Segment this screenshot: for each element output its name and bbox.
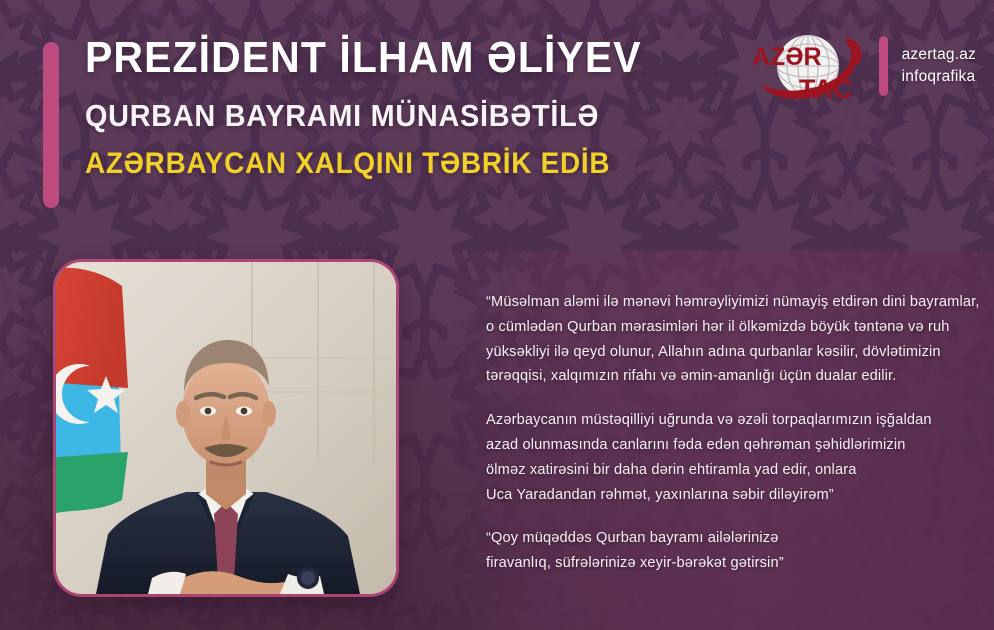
paragraph-2-line-1: Azərbaycanın müstəqilliyi uğrunda və əzə… bbox=[486, 408, 934, 433]
statement-paragraph-3: “Qoy müqəddəs Qurban bayramı ailələriniz… bbox=[486, 526, 934, 576]
statement-text-block: “Müsəlman aləmi ilə mənəvi həmrəyliyimiz… bbox=[486, 290, 934, 576]
logo-word-top: AZƏR bbox=[752, 43, 822, 71]
paragraph-3-line-1: “Qoy müqəddəs Qurban bayramı ailələriniz… bbox=[486, 526, 934, 551]
title-accent-bar bbox=[43, 42, 59, 208]
paragraph-3-line-2: firavanlıq, süfrələrinizə xeyir-bərəkət … bbox=[486, 551, 934, 576]
paragraph-1-line-3: yüksəkliyi ilə qeyd olunur, Allahın adın… bbox=[486, 340, 934, 365]
azertac-logo-icon[interactable]: AZƏR TAC bbox=[745, 28, 871, 104]
infographic-canvas: PREZİDENT İLHAM ƏLİYEV QURBAN BAYRAMI MÜ… bbox=[0, 0, 994, 630]
brand-site-url[interactable]: azertag.az bbox=[902, 44, 976, 66]
brand-block[interactable]: AZƏR TAC azertag.az infoqrafika bbox=[745, 28, 976, 104]
brand-text: azertag.az infoqrafika bbox=[902, 44, 976, 89]
paragraph-2-line-2: azad olunmasında canlarını fəda edən qəh… bbox=[486, 433, 934, 458]
brand-section-label: infoqrafika bbox=[902, 66, 976, 88]
statement-paragraph-2: Azərbaycanın müstəqilliyi uğrunda və əzə… bbox=[486, 408, 934, 507]
headline-group: PREZİDENT İLHAM ƏLİYEV QURBAN BAYRAMI MÜ… bbox=[85, 34, 684, 180]
paragraph-2-line-4: Uca Yaradandan rəhmət, yaxınlarına səbir… bbox=[486, 483, 934, 508]
president-portrait-photo bbox=[56, 262, 396, 594]
page-title: PREZİDENT İLHAM ƏLİYEV bbox=[85, 34, 642, 82]
paragraph-1-line-2: o cümlədən Qurban mərasimləri hər il ölk… bbox=[486, 315, 934, 340]
paragraph-1-line-1: “Müsəlman aləmi ilə mənəvi həmrəyliyimiz… bbox=[486, 290, 934, 315]
page-subtitle: QURBAN BAYRAMI MÜNASİBƏTİLƏ bbox=[85, 99, 642, 132]
statement-paragraph-1: “Müsəlman aləmi ilə mənəvi həmrəyliyimiz… bbox=[486, 290, 934, 389]
logo-word-bottom: TAC bbox=[799, 74, 853, 104]
page-title-highlight: AZƏRBAYCAN XALQINI TƏBRİK EDİB bbox=[85, 148, 642, 180]
brand-divider bbox=[879, 36, 888, 96]
paragraph-1-line-4: tərəqqisi, xalqımızın rifahı və əmin-ama… bbox=[486, 364, 934, 389]
paragraph-2-line-3: ölməz xatirəsini bir daha dərin ehtiraml… bbox=[486, 458, 934, 483]
